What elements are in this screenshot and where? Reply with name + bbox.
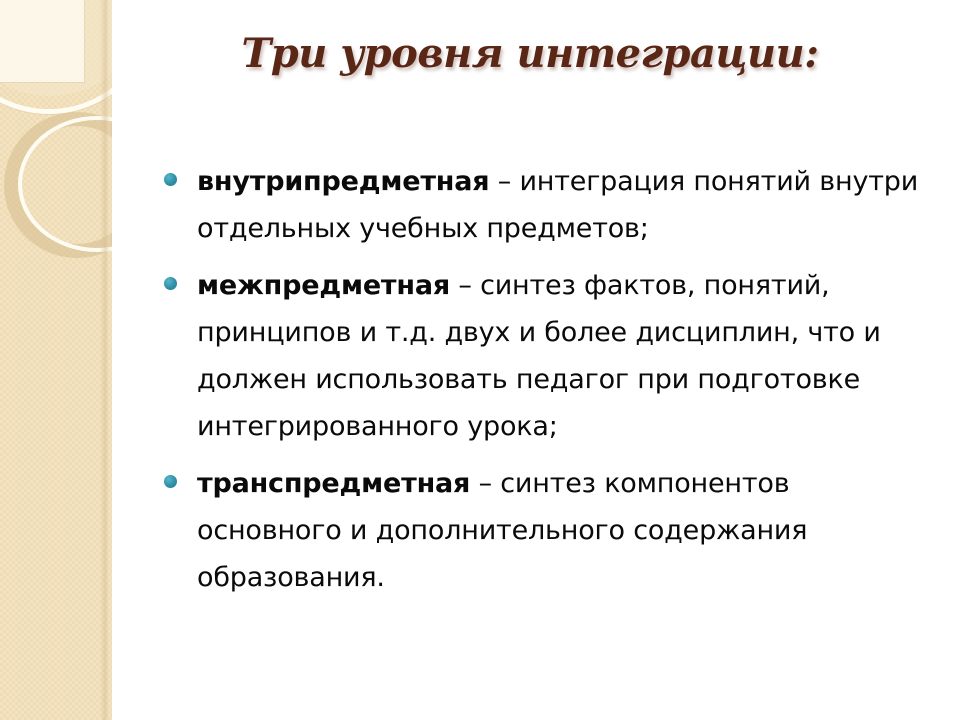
bullet-text: транспредметная – синтез компонентов осн… <box>197 460 924 601</box>
large-cream-ring-icon <box>0 0 112 114</box>
bullet-text: межпредметная – синтез фактов, понятий, … <box>197 262 924 450</box>
bullet-dot-icon <box>164 173 177 186</box>
list-item: внутрипредметная – интеграция понятий вн… <box>164 158 924 252</box>
list-item: межпредметная – синтез фактов, понятий, … <box>164 262 924 450</box>
bullet-lead-term: внутрипредметная <box>197 166 489 197</box>
sidebar-edge-gradient <box>100 0 112 720</box>
bullet-list: внутрипредметная – интеграция понятий вн… <box>164 158 924 611</box>
bullet-dot-icon <box>164 277 177 290</box>
slide-canvas: Три уровня интеграции: внутрипредметная … <box>0 0 960 720</box>
bullet-lead-term: транспредметная <box>197 468 470 499</box>
decorative-sidebar <box>0 0 112 720</box>
bullet-lead-term: межпредметная <box>197 270 450 301</box>
bullet-text: внутрипредметная – интеграция понятий вн… <box>197 158 924 252</box>
bullet-dot-icon <box>164 475 177 488</box>
slide-title: Три уровня интеграции: <box>120 30 940 77</box>
list-item: транспредметная – синтез компонентов осн… <box>164 460 924 601</box>
